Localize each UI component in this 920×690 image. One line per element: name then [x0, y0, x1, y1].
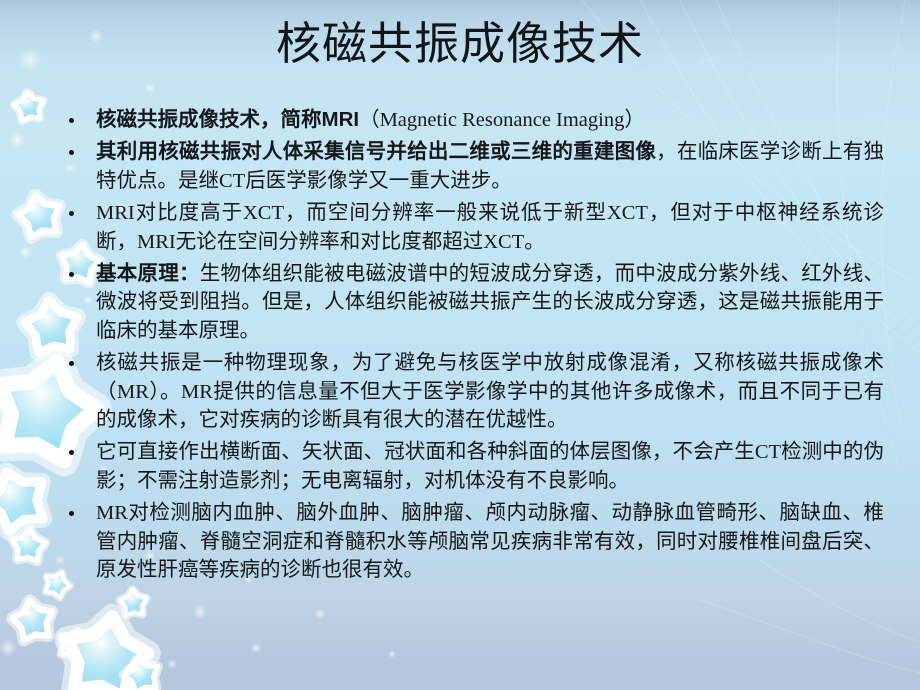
slide-body: 核磁共振成像技术，简称MRI（Magnetic Resonance Imagin… [58, 106, 884, 589]
bullet-item: 核磁共振成像技术，简称MRI（Magnetic Resonance Imagin… [58, 106, 884, 134]
bullet-item: MR对检测脑内血肿、脑外血肿、脑肿瘤、颅内动脉瘤、动静脉血管畸形、脑缺血、椎管内… [58, 499, 884, 584]
bullet-text-segment: 其利用核磁共振对人体采集信号并给出二维或三维的重建图像 [96, 140, 656, 163]
bullet-text-segment: 核磁共振是一种物理现象，为了避免与核医学中放射成像混淆，又称核磁共振成像术（MR… [96, 352, 884, 431]
bullet-text-segment: 它可直接作出横断面、矢状面、冠状面和各种斜面的体层图像，不会产生CT检测中的伪影… [96, 441, 884, 491]
star-top-1-icon [4, 82, 54, 132]
bullet-text-segment: MRI [322, 108, 360, 131]
bullet-text-segment: 核磁共振成像技术，简称 [96, 108, 322, 131]
bullet-item: 它可直接作出横断面、矢状面、冠状面和各种斜面的体层图像，不会产生CT检测中的伪影… [58, 438, 884, 495]
bullet-item: 基本原理：生物体组织能被电磁波谱中的短波成分穿透，而中波成分紫外线、红外线、微波… [58, 260, 884, 345]
bullet-text-segment: （Magnetic Resonance Imaging） [359, 109, 645, 131]
bullet-item: MRI对比度高于XCT，而空间分辨率一般来说低于新型XCT，但对于中枢神经系统诊… [58, 199, 884, 256]
bullet-text-segment: 生物体组织能被电磁波谱中的短波成分穿透，而中波成分紫外线、红外线、微波将受到阻挡… [96, 263, 884, 342]
bullet-item: 其利用核磁共振对人体采集信号并给出二维或三维的重建图像，在临床医学诊断上有独特优… [58, 138, 884, 195]
bullet-text-segment: MRI对比度高于XCT，而空间分辨率一般来说低于新型XCT，但对于中枢神经系统诊… [96, 202, 884, 252]
star-bottom-4-icon [33, 587, 177, 690]
star-bottom-2-icon [48, 620, 98, 670]
star-bottom-1-icon [0, 586, 68, 657]
presentation-slide: 核磁共振成像技术 核磁共振成像技术，简称MRI（Magnetic Resonan… [0, 0, 920, 690]
bullet-text-segment: CT [219, 170, 245, 192]
star-left-6-icon [0, 518, 57, 575]
star-bottom-5-icon [112, 646, 172, 690]
bullet-text-segment: 基本原理： [96, 262, 200, 285]
bullet-item: 核磁共振是一种物理现象，为了避免与核医学中放射成像混淆，又称核磁共振成像术（MR… [58, 349, 884, 434]
slide-title: 核磁共振成像技术 [0, 16, 920, 72]
bullet-text-segment: 后医学影像学又一重大进步。 [245, 170, 512, 192]
bullet-text-segment: MR对检测脑内血肿、脑外血肿、脑肿瘤、颅内动脉瘤、动静脉血管畸形、脑缺血、椎管内… [96, 502, 884, 581]
